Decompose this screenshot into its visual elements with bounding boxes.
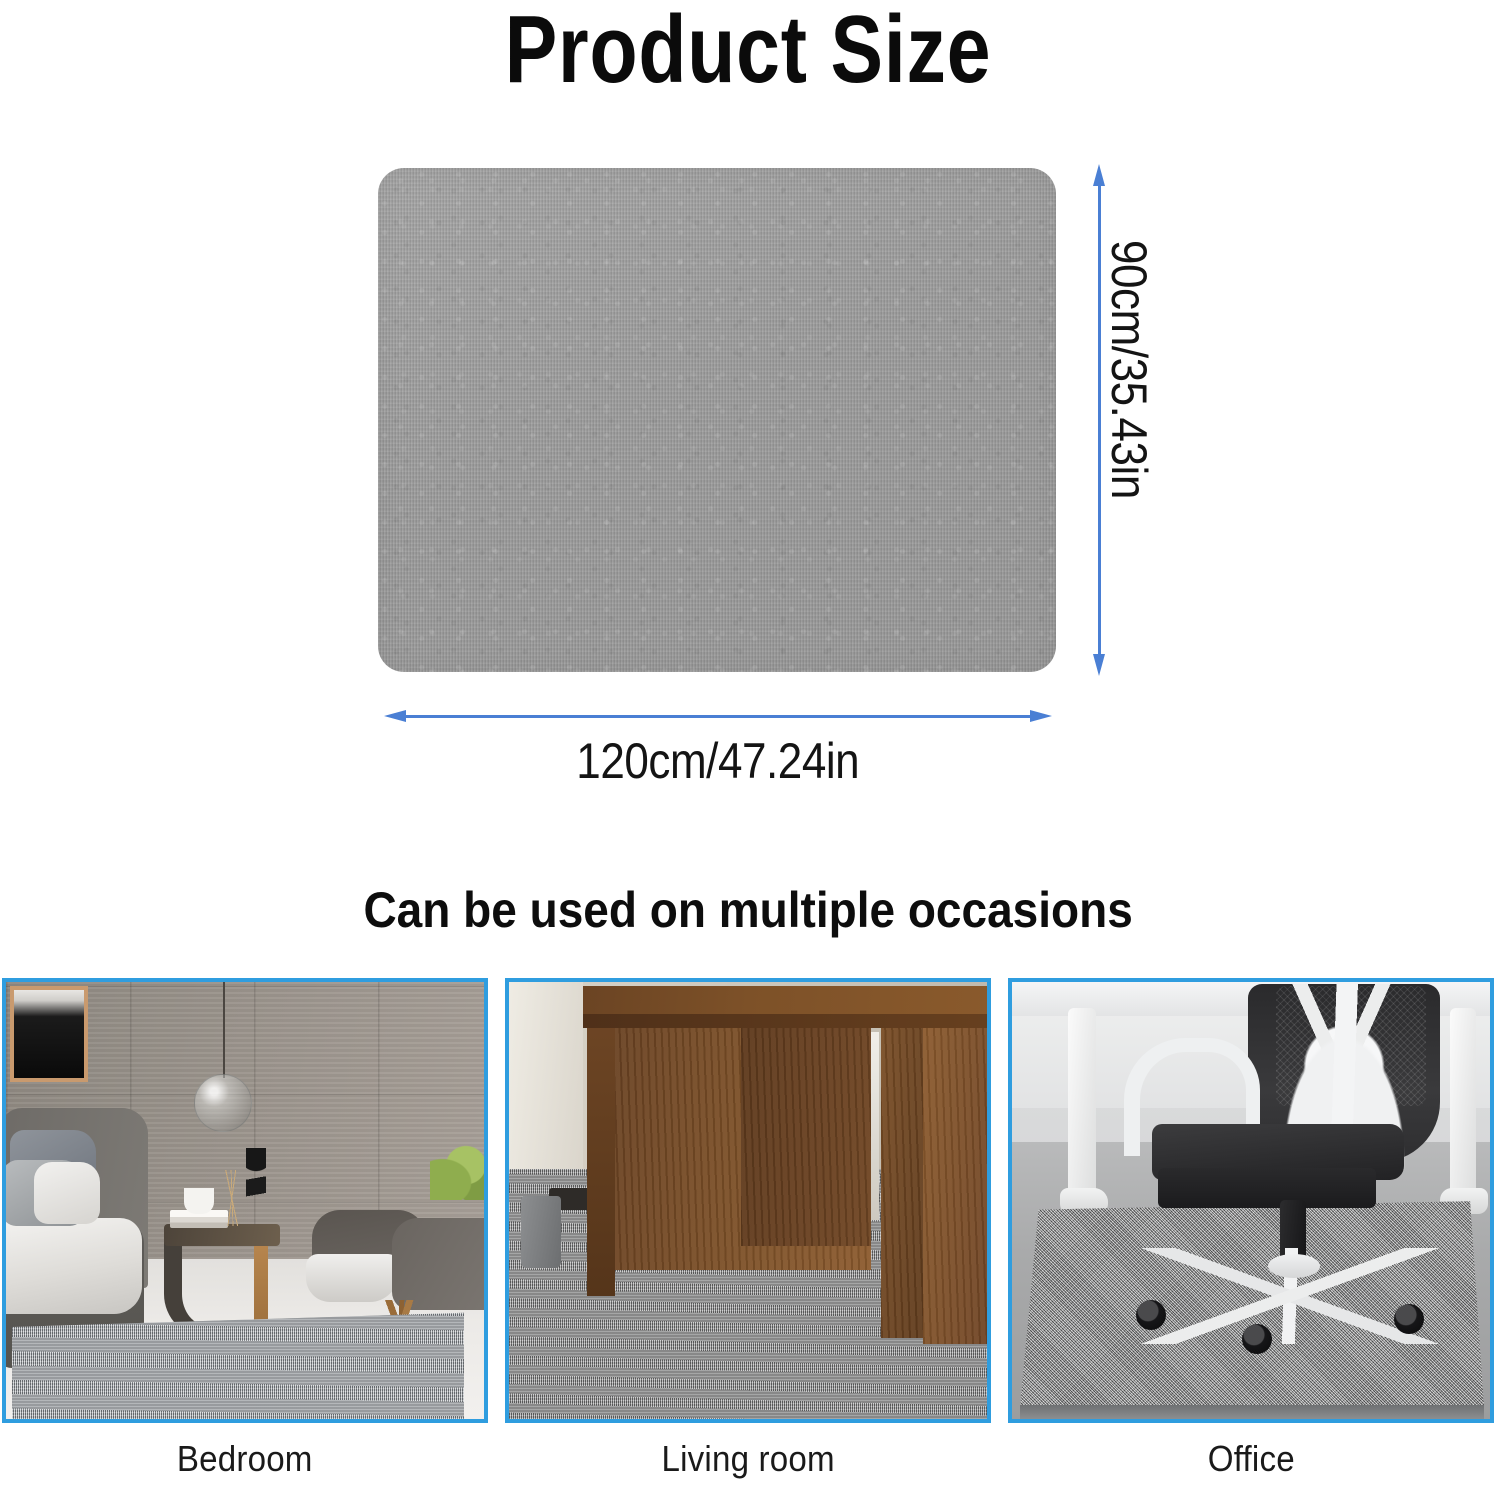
height-dimension-label: 90cm/35.43in xyxy=(1100,240,1158,600)
office-chair-caster xyxy=(1394,1304,1424,1334)
arrow-head-right-icon xyxy=(1030,710,1052,722)
wooden-table-leg-left xyxy=(587,1020,615,1296)
caption-text: Living room xyxy=(661,1437,834,1481)
width-dimension-arrow xyxy=(384,710,1052,722)
office-chair-mechanism xyxy=(1158,1168,1376,1208)
occasion-card-living-room: Living room xyxy=(505,978,991,1481)
wooden-table-top-edge xyxy=(583,1014,991,1028)
houseplant xyxy=(430,1142,488,1200)
living-room-photo xyxy=(505,978,991,1423)
figurine-sculpture xyxy=(246,1148,266,1228)
width-dimension-label: 120cm/47.24in xyxy=(384,730,1052,792)
width-dimension-text: 120cm/47.24in xyxy=(577,730,860,792)
reed-diffuser xyxy=(220,1170,246,1226)
caption-text: Bedroom xyxy=(177,1437,313,1481)
arrow-head-down-icon xyxy=(1093,654,1105,676)
armchair-side xyxy=(392,1218,488,1310)
living-room-scene xyxy=(509,982,987,1419)
bed-duvet xyxy=(2,1218,142,1314)
occasion-caption-office: Office xyxy=(1008,1437,1494,1481)
occasion-card-office: Office xyxy=(1008,978,1494,1481)
office-scene xyxy=(1012,982,1490,1419)
occasions-heading-text: Can be used on multiple occasions xyxy=(363,880,1132,940)
occasion-caption-living-room: Living room xyxy=(505,1437,991,1481)
occasions-heading: Can be used on multiple occasions xyxy=(0,880,1496,940)
product-size-diagram: 90cm/35.43in 120cm/47.24in xyxy=(0,120,1496,820)
page-title: Product Size xyxy=(135,2,1362,98)
bedroom-scene xyxy=(6,982,484,1419)
pillow-white xyxy=(34,1162,100,1224)
pendant-lamp-cord xyxy=(223,982,225,1078)
product-mat-image xyxy=(378,168,1056,672)
armchair-seat xyxy=(306,1254,398,1302)
caption-text: Office xyxy=(1207,1437,1294,1481)
occasion-caption-bedroom: Bedroom xyxy=(2,1437,488,1481)
pendant-lamp-globe xyxy=(194,1074,252,1132)
arrow-shaft xyxy=(400,715,1036,718)
office-desk-leg-left xyxy=(1068,1008,1096,1206)
wooden-table-leg-right xyxy=(881,1022,927,1338)
office-desk-leg-right xyxy=(1450,1008,1476,1208)
occasion-card-bedroom: Bedroom xyxy=(2,978,488,1481)
white-vase xyxy=(184,1188,214,1214)
office-chair-caster xyxy=(1242,1324,1272,1354)
office-chair-base-hub xyxy=(1268,1254,1320,1278)
wooden-table-leg-right-face xyxy=(923,1018,991,1344)
gray-mat-front-edge xyxy=(1020,1405,1484,1419)
occasion-gallery: Bedroom Living room xyxy=(0,978,1496,1500)
office-chair-caster xyxy=(1136,1300,1166,1330)
wall-art-frame xyxy=(10,986,88,1082)
waste-bin xyxy=(521,1196,561,1268)
bedroom-photo xyxy=(2,978,488,1423)
wooden-table-panel-shadow xyxy=(741,1026,871,1246)
office-photo xyxy=(1008,978,1494,1423)
height-dimension-text: 90cm/35.43in xyxy=(1100,240,1158,499)
